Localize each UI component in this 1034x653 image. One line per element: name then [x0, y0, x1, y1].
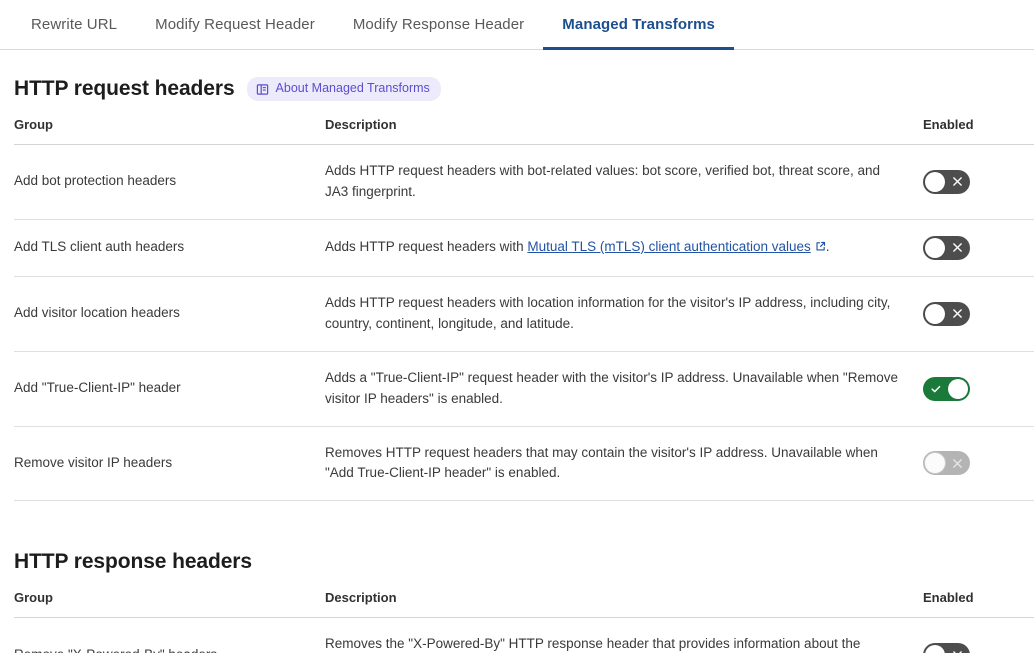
row-description: Removes the "X-Powered-By" HTTP response…	[320, 618, 920, 653]
table-row: Add "True-Client-IP" header Adds a "True…	[14, 351, 1034, 426]
check-icon	[930, 377, 942, 401]
tab-bar: Rewrite URL Modify Request Header Modify…	[0, 0, 1034, 50]
close-icon	[952, 451, 963, 475]
response-headers-table: Group Description Enabled Remove "X-Powe…	[14, 590, 1034, 653]
tab-modify-response-header[interactable]: Modify Response Header	[334, 0, 543, 49]
table-header-row: Group Description Enabled	[14, 590, 1034, 618]
row-enabled-cell	[920, 426, 1034, 501]
toggle-knob	[925, 172, 945, 192]
section-spacer	[0, 501, 1034, 523]
about-managed-transforms-badge[interactable]: About Managed Transforms	[247, 77, 441, 101]
http-response-headers-section: HTTP response headers Group Description …	[0, 523, 1034, 653]
close-icon	[952, 302, 963, 326]
tab-label: Rewrite URL	[31, 16, 117, 33]
close-icon	[952, 236, 963, 260]
row-enabled-cell	[920, 351, 1034, 426]
row-group-label: Add "True-Client-IP" header	[14, 351, 320, 426]
response-section-title: HTTP response headers	[14, 550, 252, 574]
column-header-description: Description	[320, 117, 920, 145]
response-section-header: HTTP response headers	[14, 523, 1020, 590]
toggle-add-bot-protection-headers[interactable]	[923, 170, 970, 194]
request-section-header: HTTP request headers About Managed Trans…	[14, 50, 1020, 117]
toggle-remove-visitor-ip-headers	[923, 451, 970, 475]
http-request-headers-section: HTTP request headers About Managed Trans…	[0, 50, 1034, 501]
table-header-row: Group Description Enabled	[14, 117, 1034, 145]
toggle-add-tls-client-auth-headers[interactable]	[923, 236, 970, 260]
close-icon	[952, 170, 963, 194]
toggle-knob	[925, 453, 945, 473]
row-group-label: Add visitor location headers	[14, 276, 320, 351]
toggle-knob	[925, 645, 945, 653]
row-description: Adds HTTP request headers with Mutual TL…	[320, 219, 920, 276]
mtls-documentation-link[interactable]: Mutual TLS (mTLS) client authentication …	[527, 239, 810, 254]
table-row: Remove "X-Powered-By" headers Removes th…	[14, 618, 1034, 653]
tab-label: Modify Request Header	[155, 16, 315, 33]
close-icon	[952, 643, 963, 653]
table-row: Remove visitor IP headers Removes HTTP r…	[14, 426, 1034, 501]
toggle-knob	[925, 238, 945, 258]
description-prefix: Adds HTTP request headers with	[325, 239, 527, 254]
row-description: Adds HTTP request headers with bot-relat…	[320, 145, 920, 220]
row-enabled-cell	[920, 145, 1034, 220]
toggle-add-visitor-location-headers[interactable]	[923, 302, 970, 326]
column-header-enabled: Enabled	[920, 590, 1034, 618]
book-icon	[256, 83, 269, 96]
toggle-add-true-client-ip-header[interactable]	[923, 377, 970, 401]
toggle-remove-x-powered-by-headers[interactable]	[923, 643, 970, 653]
row-description: Adds HTTP request headers with location …	[320, 276, 920, 351]
about-badge-label: About Managed Transforms	[276, 80, 430, 98]
row-description: Removes HTTP request headers that may co…	[320, 426, 920, 501]
row-enabled-cell	[920, 219, 1034, 276]
toggle-knob	[925, 304, 945, 324]
toggle-knob	[948, 379, 968, 399]
row-group-label: Remove "X-Powered-By" headers	[14, 618, 320, 653]
request-headers-table: Group Description Enabled Add bot protec…	[14, 117, 1034, 501]
row-enabled-cell	[920, 276, 1034, 351]
tab-rewrite-url[interactable]: Rewrite URL	[12, 0, 136, 49]
row-group-label: Add TLS client auth headers	[14, 219, 320, 276]
row-description: Adds a "True-Client-IP" request header w…	[320, 351, 920, 426]
column-header-group: Group	[14, 117, 320, 145]
external-link-icon[interactable]	[815, 238, 826, 259]
row-group-label: Remove visitor IP headers	[14, 426, 320, 501]
tab-managed-transforms[interactable]: Managed Transforms	[543, 0, 734, 49]
row-enabled-cell	[920, 618, 1034, 653]
column-header-enabled: Enabled	[920, 117, 1034, 145]
tab-label: Managed Transforms	[562, 16, 715, 33]
table-row: Add bot protection headers Adds HTTP req…	[14, 145, 1034, 220]
table-row: Add TLS client auth headers Adds HTTP re…	[14, 219, 1034, 276]
description-suffix: .	[826, 239, 830, 254]
table-row: Add visitor location headers Adds HTTP r…	[14, 276, 1034, 351]
page-title: HTTP request headers	[14, 77, 235, 101]
tab-label: Modify Response Header	[353, 16, 524, 33]
tab-modify-request-header[interactable]: Modify Request Header	[136, 0, 334, 49]
row-group-label: Add bot protection headers	[14, 145, 320, 220]
column-header-description: Description	[320, 590, 920, 618]
column-header-group: Group	[14, 590, 320, 618]
